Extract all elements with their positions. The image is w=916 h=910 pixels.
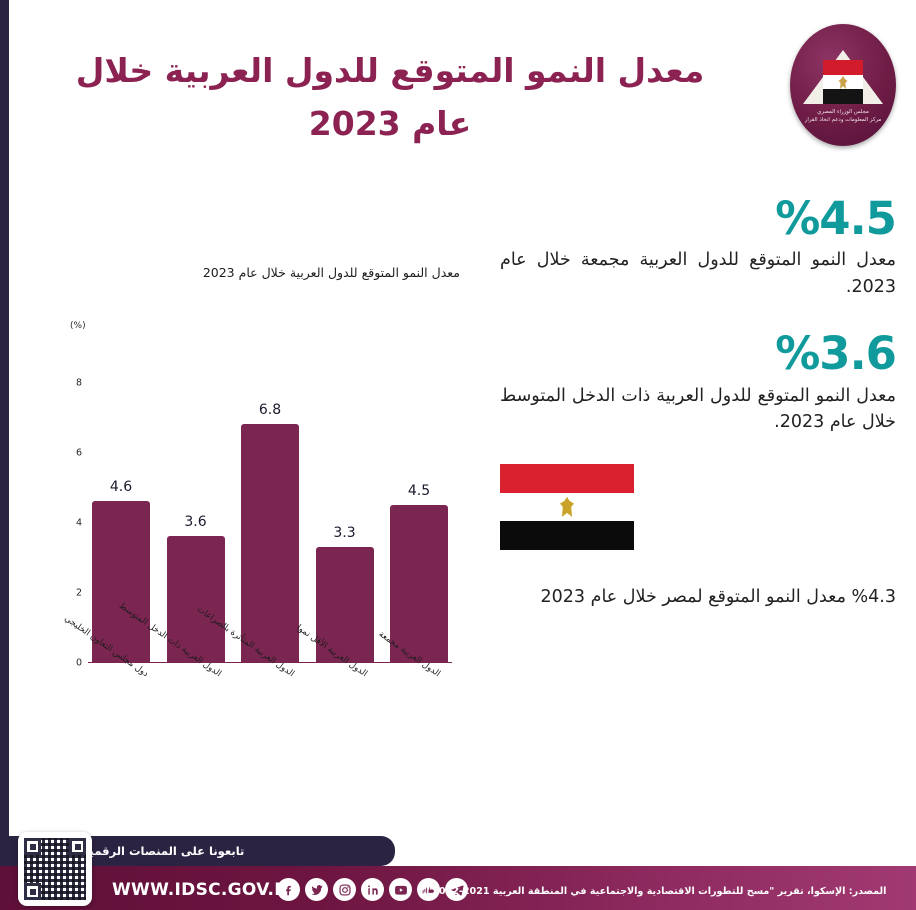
website-url[interactable]: WWW.IDSC.GOV.EG [112,880,300,900]
idsc-logo: مجلس الوزراء المصري مركز المعلومات ودعم … [790,24,896,146]
eagle-of-saladin-icon [560,497,574,517]
header: معدل النمو المتوقع للدول العربية خلال عا… [0,0,916,180]
y-axis-tick: 4 [76,518,82,529]
bar-value-label: 4.6 [110,479,132,495]
stat-block-egypt: %4.3 معدل النمو المتوقع لمصر خلال عام 20… [500,584,896,611]
source-note: المصدر: الإسكوا، تقرير "مسح للتطورات الا… [410,886,900,897]
y-axis-tick: 6 [76,448,82,459]
logo-oval: مجلس الوزراء المصري مركز المعلومات ودعم … [790,24,896,146]
page-title: معدل النمو المتوقع للدول العربية خلال عا… [60,44,720,151]
bar [390,505,448,663]
logo-text-line1: مجلس الوزراء المصري [790,108,896,116]
stat-number: %3.6 [500,330,896,377]
instagram-icon[interactable] [333,878,356,901]
bar-value-label: 3.3 [333,525,355,541]
plot: 02468 4.63.66.83.34.5 [62,383,452,663]
y-axis-tick: 8 [76,378,82,389]
bar-value-label: 6.8 [259,402,281,418]
stat-description: معدل النمو المتوقع للدول العربية مجمعة خ… [500,247,896,300]
qr-code[interactable] [18,832,92,906]
stat-number: %4.5 [500,195,896,242]
footer: تابعونا على المنصات الرقمية WWW.IDSC.GOV… [0,828,916,910]
youtube-icon[interactable] [389,878,412,901]
egypt-flag-icon [500,464,634,550]
chart-title: معدل النمو المتوقع للدول العربية خلال عا… [60,265,460,280]
y-axis-tick: 2 [76,588,82,599]
bar-column: 4.5 [390,383,448,662]
logo-text-line2: مركز المعلومات ودعم اتخاذ القرار [790,116,896,124]
qr-pattern [24,838,86,900]
stat-description: معدل النمو المتوقع للدول العربية ذات الد… [500,383,896,436]
linkedin-icon[interactable] [361,878,384,901]
x-axis-labels: دول مجلس التعاون الخليجيالدول العربية ذا… [88,667,452,797]
twitter-icon[interactable] [305,878,328,901]
bar-value-label: 3.6 [184,514,206,530]
stat-block-middle-income: %3.6 معدل النمو المتوقع للدول العربية ذا… [500,330,896,435]
infographic-page: معدل النمو المتوقع للدول العربية خلال عا… [0,0,916,910]
stats-column: %4.5 معدل النمو المتوقع للدول العربية مج… [500,195,896,611]
stat-block-arab-total: %4.5 معدل النمو المتوقع للدول العربية مج… [500,195,896,300]
chart-unit-label: (%) [70,321,86,331]
facebook-icon[interactable] [277,878,300,901]
bar-value-label: 4.5 [408,483,430,499]
bar-chart: معدل النمو المتوقع للدول العربية خلال عا… [30,255,480,815]
logo-text: مجلس الوزراء المصري مركز المعلومات ودعم … [790,108,896,125]
y-axis-tick: 0 [76,658,82,669]
egypt-flag-wrap [500,464,896,550]
egypt-description: %4.3 معدل النمو المتوقع لمصر خلال عام 20… [500,584,896,611]
